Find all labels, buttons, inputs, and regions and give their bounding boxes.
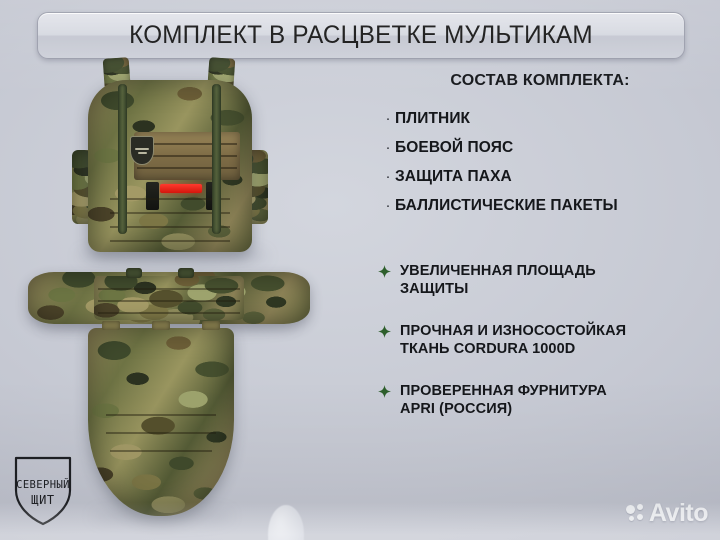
page-title: КОМПЛЕКТ В РАСЦВЕТКЕ МУЛЬТИКАМ — [129, 21, 593, 50]
list-item: ПРОВЕРЕННАЯ ФУРНИТУРА APRI (РОССИЯ) — [378, 382, 718, 418]
belt-molle-panel — [94, 276, 244, 320]
list-item-label: БОЕВОЙ ПОЯС — [395, 137, 513, 158]
diamond-star-icon — [378, 322, 400, 338]
brand-logo-line2: ЩИТ — [31, 493, 54, 507]
avito-wordmark: Avito — [649, 501, 708, 526]
carrier-front-panel — [88, 80, 252, 252]
plate-carrier — [72, 58, 268, 254]
diamond-star-icon — [378, 382, 400, 398]
groin-tab-right — [202, 321, 220, 330]
belt-loop-left — [126, 268, 142, 278]
list-item-label: ПЛИТНИК — [395, 108, 470, 129]
specs-heading: СОСТАВ КОМПЛЕКТА: — [380, 72, 700, 90]
features-list: УВЕЛИЧЕННАЯ ПЛОЩАДЬ ЗАЩИТЫ ПРОЧНАЯ И ИЗН… — [378, 262, 718, 418]
specs-list: · ПЛИТНИК · БОЕВОЙ ПОЯС · ЗАЩИТА ПАХА · … — [381, 108, 711, 224]
webbing-left — [118, 84, 127, 234]
bullet-dot-icon: · — [381, 195, 395, 216]
groin-tab-left — [102, 321, 120, 330]
list-item: · ПЛИТНИК — [381, 108, 711, 137]
diamond-star-icon — [378, 262, 400, 278]
bullet-dot-icon: · — [381, 108, 395, 129]
list-item: · БОЕВОЙ ПОЯС — [381, 137, 711, 166]
listing-image: КОМПЛЕКТ В РАСЦВЕТКЕ МУЛЬТИКАМ — [0, 0, 720, 540]
list-item-label: УВЕЛИЧЕННАЯ ПЛОЩАДЬ ЗАЩИТЫ — [400, 262, 596, 298]
webbing-right — [212, 84, 221, 234]
buckle-tab-left — [146, 182, 159, 210]
list-item: · ЗАЩИТА ПАХА — [381, 166, 711, 195]
brand-patch — [130, 136, 154, 165]
list-item: ПРОЧНАЯ И ИЗНОСОСТОЙКАЯ ТКАНЬ CORDURA 10… — [378, 322, 718, 358]
list-item: · БАЛЛИСТИЧЕСКИЕ ПАКЕТЫ — [381, 195, 711, 224]
brand-shield-logo: СЕВЕРНЫЙ ЩИТ — [10, 452, 76, 528]
brand-logo-line1: СЕВЕРНЫЙ — [16, 478, 70, 491]
bullet-dot-icon: · — [381, 137, 395, 158]
bullet-dot-icon: · — [381, 166, 395, 187]
list-item-label: ПРОВЕРЕННАЯ ФУРНИТУРА APRI (РОССИЯ) — [400, 382, 607, 418]
list-item: УВЕЛИЧЕННАЯ ПЛОЩАДЬ ЗАЩИТЫ — [378, 262, 718, 298]
list-item-label: БАЛЛИСТИЧЕСКИЕ ПАКЕТЫ — [395, 195, 618, 216]
red-accent-strip — [160, 184, 202, 193]
list-item-label: ЗАЩИТА ПАХА — [395, 166, 512, 187]
backdrop-prop — [268, 505, 304, 540]
belt-loop-right — [178, 268, 194, 278]
battle-belt — [28, 272, 310, 324]
list-item-label: ПРОЧНАЯ И ИЗНОСОСТОЙКАЯ ТКАНЬ CORDURA 10… — [400, 322, 626, 358]
groin-protector — [88, 328, 234, 516]
groin-tab-center — [152, 321, 170, 330]
avito-dots-icon — [626, 504, 645, 523]
avito-watermark: Avito — [626, 501, 708, 526]
